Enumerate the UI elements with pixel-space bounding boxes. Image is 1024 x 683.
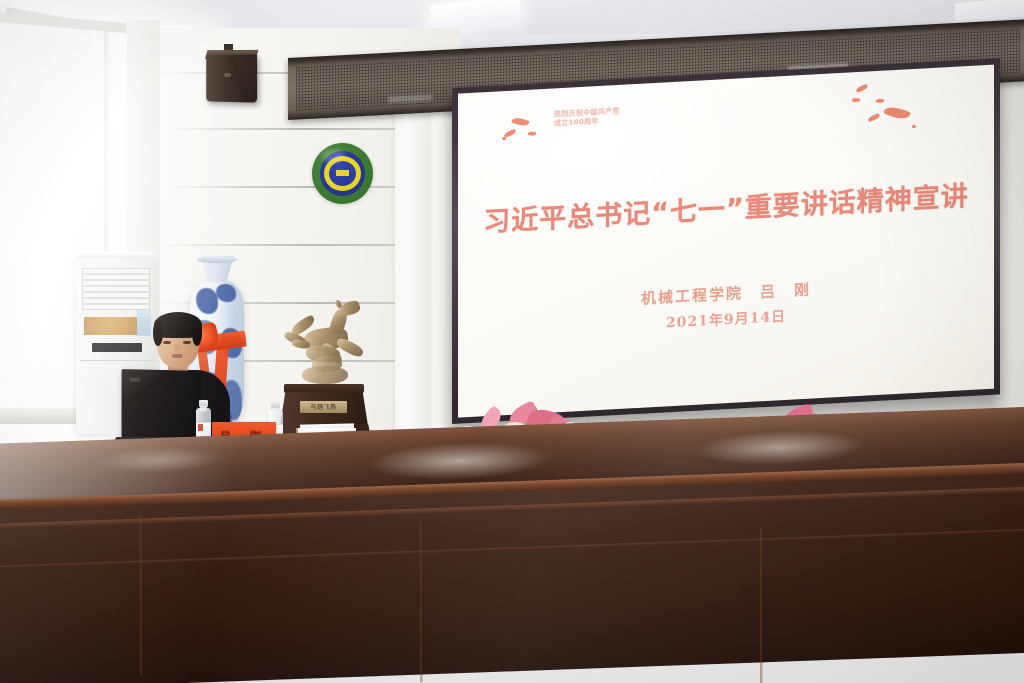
podium-vertical-joint — [140, 516, 143, 676]
vase-pattern — [196, 288, 218, 314]
dove-icon — [912, 125, 916, 128]
dove-icon — [502, 137, 506, 140]
flying-horse-trophy: 马踏飞燕 — [270, 300, 378, 440]
dove-icon — [883, 104, 911, 122]
dove-icon — [528, 131, 537, 136]
dove-icon — [511, 116, 529, 128]
dove-icon — [868, 113, 881, 122]
projector-hotspot — [458, 65, 780, 291]
photo-scene: 热烈庆祝中国共产党 成立100周年 习近平总书记“七一”重要讲话精神宣讲 机械工… — [0, 0, 1024, 683]
bottle-label-mark — [198, 424, 203, 431]
ceiling-speaker — [206, 54, 257, 102]
presenter-mouth — [172, 354, 183, 358]
trophy-plaque: 马踏飞燕 — [300, 401, 347, 413]
trophy-base-top — [284, 384, 364, 393]
horse-mount — [302, 366, 348, 384]
laptop-logo — [130, 377, 140, 381]
dove-graphic-right — [850, 80, 932, 136]
podium-vertical-joint — [760, 528, 763, 683]
podium-front-panel — [0, 473, 1024, 683]
projection-screen: 热烈庆祝中国共产党 成立100周年 习近平总书记“七一”重要讲话精神宣讲 机械工… — [458, 65, 994, 418]
bronze-horse-figure — [276, 300, 372, 388]
podium-panel-sheen — [0, 473, 1024, 683]
dove-icon — [504, 129, 517, 138]
dove-graphic-left — [502, 112, 560, 143]
presenter-eye — [183, 341, 191, 344]
presenter-eyebrow — [182, 336, 192, 338]
laptop-computer — [122, 369, 199, 441]
emblem-highlight — [321, 149, 345, 163]
dove-icon — [876, 98, 885, 103]
presenter-nose — [175, 344, 180, 351]
dove-icon — [856, 84, 869, 93]
presenter-eyebrow — [162, 336, 172, 338]
trophy-plaque-text: 马踏飞燕 — [300, 402, 347, 411]
wall-pilaster — [395, 86, 431, 438]
presenter-eye — [163, 341, 171, 344]
projection-screen-frame: 热烈庆祝中国共产党 成立100周年 习近平总书记“七一”重要讲话精神宣讲 机械工… — [452, 58, 1000, 424]
anniversary-caption: 热烈庆祝中国共产党 成立100周年 — [554, 107, 620, 129]
wall-emblem — [312, 143, 373, 204]
podium-vertical-joint — [420, 522, 423, 682]
air-conditioner-louvers — [82, 268, 150, 310]
speaker-badge — [224, 73, 231, 77]
emblem-center-bar — [336, 170, 349, 176]
dove-icon — [852, 98, 861, 103]
vase-pattern — [216, 284, 236, 302]
presenter-hair-side — [153, 320, 163, 346]
presenter-hair-side — [192, 320, 202, 346]
vase-lip — [197, 256, 237, 263]
